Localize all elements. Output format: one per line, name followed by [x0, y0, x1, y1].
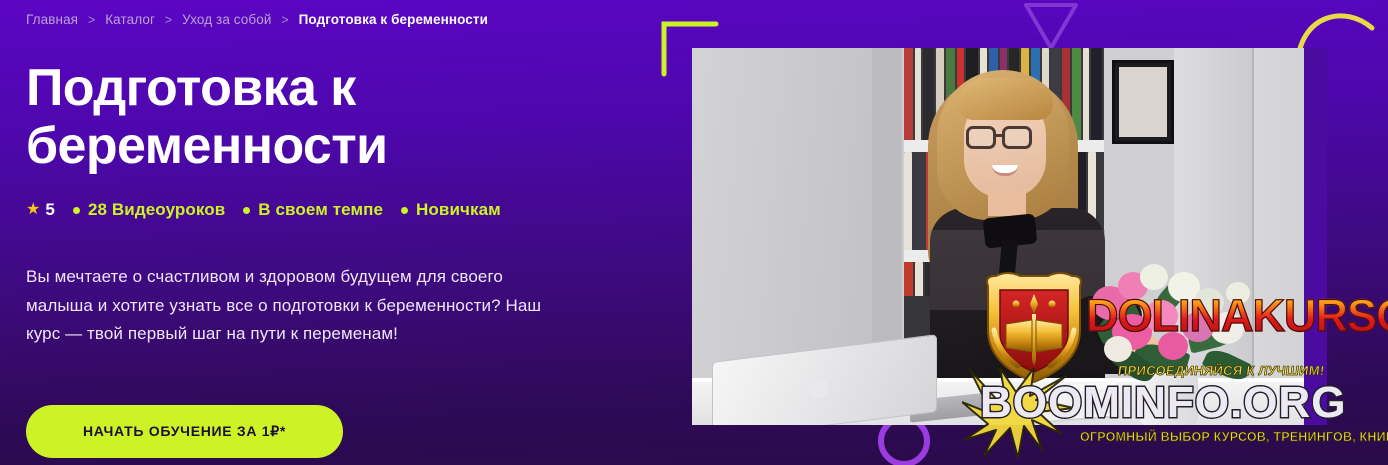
meta-label-lessons: 28 Видеоуроков: [88, 200, 225, 220]
course-meta-row: ★ 5 28 Видеоуроков В своем темпе Новичка…: [26, 200, 501, 220]
breadcrumb-separator: >: [281, 13, 288, 27]
page-title: Подготовка к беременности: [26, 59, 586, 175]
bullet-icon: [73, 207, 80, 214]
meta-label-pace: В своем темпе: [258, 200, 383, 220]
photo-woman-fringe: [958, 78, 1053, 120]
breadcrumb-item-current: Подготовка к беременности: [299, 12, 488, 27]
meta-item-pace: В своем темпе: [243, 200, 383, 220]
bullet-icon: [243, 207, 250, 214]
bullet-icon: [401, 207, 408, 214]
star-icon: ★: [26, 202, 40, 218]
meta-item-level: Новичкам: [401, 200, 501, 220]
photo-picture-frame: [1112, 60, 1174, 144]
breadcrumb-separator: >: [88, 13, 95, 27]
breadcrumb-item-home[interactable]: Главная: [26, 12, 78, 27]
photo-glasses-lens: [966, 126, 996, 149]
watermark-boominfo-tagline: ОГРОМНЫЙ ВЫБОР КУРСОВ, ТРЕНИНГОВ, КНИГ: [1080, 430, 1388, 444]
start-course-button[interactable]: НАЧАТЬ ОБУЧЕНИЕ ЗА 1₽*: [26, 405, 343, 458]
breadcrumb-item-catalog[interactable]: Каталог: [105, 12, 155, 27]
photo-glasses-lens: [1002, 126, 1032, 149]
course-description: Вы мечтаете о счастливом и здоровом буду…: [26, 263, 546, 349]
meta-item-lessons: 28 Видеоуроков: [73, 200, 225, 220]
rating-value: 5: [45, 200, 55, 220]
photo-glasses-bridge: [996, 134, 1004, 137]
hero-text-column: Главная > Каталог > Уход за собой > Подг…: [26, 0, 636, 465]
meta-label-level: Новичкам: [416, 200, 501, 220]
course-hero-banner: Главная > Каталог > Уход за собой > Подг…: [0, 0, 1388, 465]
watermark-dolinakursov-text: DOLINAKURSOV: [1086, 290, 1388, 342]
breadcrumb-item-selfcare[interactable]: Уход за собой: [182, 12, 271, 27]
breadcrumb-separator: >: [165, 13, 172, 27]
watermark-boominfo-text-fill: BOOMINFO.ORG: [980, 378, 1346, 428]
photo-woman-neck: [988, 190, 1026, 216]
watermark-boominfo: BOOMINFO.ORG BOOMINFO.ORG ОГРОМНЫЙ ВЫБОР…: [962, 368, 1388, 465]
breadcrumb: Главная > Каталог > Уход за собой > Подг…: [26, 11, 488, 29]
